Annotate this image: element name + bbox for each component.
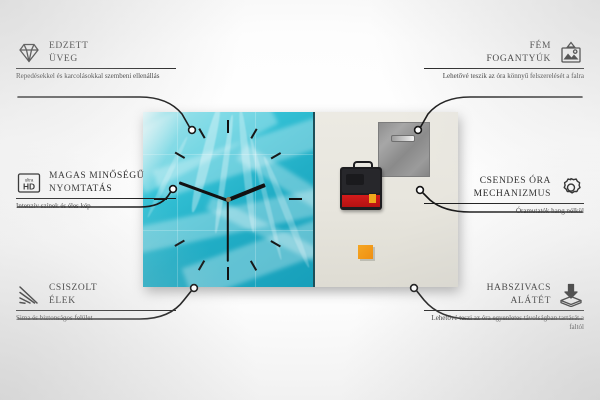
metal-hanger xyxy=(378,122,430,177)
divider xyxy=(424,68,584,69)
gear-icon xyxy=(558,176,584,200)
infographic-stage: EDZETT ÜVEG Repedésekkel és karcolásokka… xyxy=(0,0,600,400)
feature-description: Lehetővé teszik az óra könnyű felszerelé… xyxy=(424,72,584,82)
feature-title-line2: NYOMTATÁS xyxy=(49,183,144,196)
feature-description: Repedésekkel és karcolásokkal szembeni e… xyxy=(16,72,176,82)
feature-title-line1: CSISZOLT xyxy=(49,282,97,295)
divider xyxy=(424,203,584,204)
feature-metal-hangers: FÉM FOGANTYÚK Lehetővé teszik az óra kön… xyxy=(424,40,584,81)
clock-center-cap xyxy=(226,197,231,202)
feature-title-line1: MAGAS MINŐSÉGŰ xyxy=(49,170,144,183)
feature-title-line1: FÉM xyxy=(486,40,551,53)
battery-label xyxy=(342,195,380,207)
feature-high-quality-print: ultra HD MAGAS MINŐSÉGŰ NYOMTATÁS Intenz… xyxy=(16,170,176,211)
feature-title-line2: ÉLEK xyxy=(49,295,97,308)
svg-text:HD: HD xyxy=(23,181,35,191)
diamond-icon xyxy=(16,41,42,65)
divider xyxy=(16,310,176,311)
feature-title-line1: CSENDES ÓRA xyxy=(474,175,551,188)
product-image xyxy=(143,112,458,287)
feature-title-line1: EDZETT xyxy=(49,40,88,53)
feature-tempered-glass: EDZETT ÜVEG Repedésekkel és karcolásokka… xyxy=(16,40,176,81)
feature-title-line1: HABSZIVACS xyxy=(487,282,551,295)
feature-description: Óramutatók hang nélkül xyxy=(424,207,584,217)
feature-foam-pad: HABSZIVACS ALÁTÉT Lehetővé teszi az óra … xyxy=(424,282,584,333)
feature-description: Intenzív színek és éles kép xyxy=(16,202,176,212)
divider xyxy=(16,68,176,69)
hanger-slot xyxy=(391,135,415,142)
battery-plus-mark xyxy=(369,194,376,203)
feature-polished-edges: CSISZOLT ÉLEK Sima és biztonságos felüle… xyxy=(16,282,176,323)
feature-title-line2: ÜVEG xyxy=(49,53,88,66)
feature-silent-mechanism: CSENDES ÓRA MECHANIZMUS Óramutatók hang … xyxy=(424,175,584,216)
clock-second-hand xyxy=(227,200,229,262)
feature-description: Lehetővé teszi az óra egyenletes távolsá… xyxy=(424,314,584,333)
foam-pad-arrow-icon xyxy=(558,283,584,307)
divider xyxy=(424,310,584,311)
feature-title-line2: FOGANTYÚK xyxy=(486,53,551,66)
ultra-hd-icon: ultra HD xyxy=(16,171,42,195)
feature-title-line2: MECHANIZMUS xyxy=(474,188,551,201)
mechanism-body xyxy=(342,169,380,193)
feature-title-line2: ALÁTÉT xyxy=(487,295,551,308)
polished-edges-icon xyxy=(16,283,42,307)
feature-description: Sima és biztonságos felület xyxy=(16,314,176,324)
divider xyxy=(16,198,176,199)
foam-pad xyxy=(358,245,373,259)
mechanism-dial xyxy=(346,174,364,185)
clock-mechanism xyxy=(340,167,382,210)
picture-frame-hanger-icon xyxy=(558,41,584,65)
